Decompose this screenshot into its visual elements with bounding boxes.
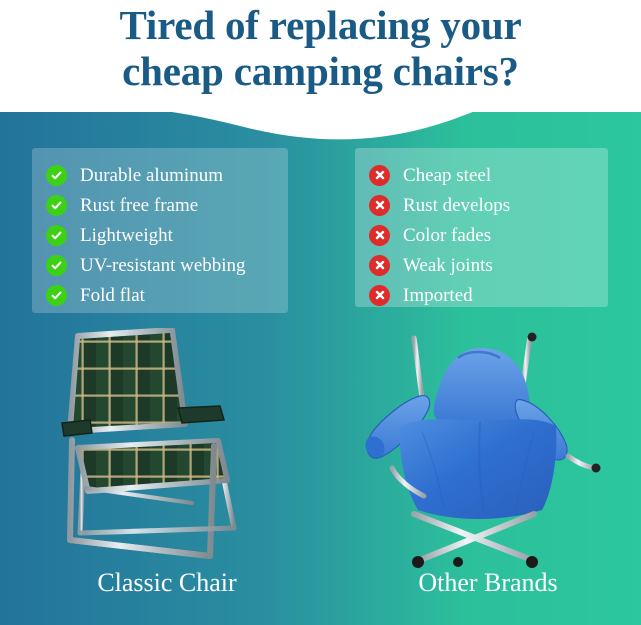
list-item-label: Color fades <box>403 225 491 246</box>
list-item: UV-resistant webbing <box>46 250 274 280</box>
list-item-label: Imported <box>403 285 473 306</box>
list-item-label: Cheap steel <box>403 165 491 186</box>
list-item-label: Durable aluminum <box>80 165 223 186</box>
list-item-label: Weak joints <box>403 255 493 276</box>
list-item: Rust develops <box>369 190 594 220</box>
check-circle-icon <box>46 225 67 246</box>
check-circle-icon <box>46 285 67 306</box>
list-item: Cheap steel <box>369 160 594 190</box>
x-circle-icon <box>369 225 390 246</box>
x-circle-icon <box>369 165 390 186</box>
webbed-lawn-chair-image <box>42 328 292 573</box>
list-item: Rust free frame <box>46 190 274 220</box>
check-circle-icon <box>46 165 67 186</box>
blue-folding-camp-chair-image <box>362 328 612 573</box>
comparison-infographic: Tired of replacing your cheap camping ch… <box>0 0 641 625</box>
right-product-caption: Other Brands <box>348 568 628 598</box>
list-item-label: Fold flat <box>80 285 145 306</box>
check-circle-icon <box>46 195 67 216</box>
list-item-label: Rust free frame <box>80 195 198 216</box>
page-title: Tired of replacing your cheap camping ch… <box>0 2 641 94</box>
cons-panel: Cheap steel Rust develops Color fades We… <box>355 148 608 307</box>
list-item: Weak joints <box>369 250 594 280</box>
header-band: Tired of replacing your cheap camping ch… <box>0 0 641 112</box>
pros-panel: Durable aluminum Rust free frame Lightwe… <box>32 148 288 313</box>
list-item-label: UV-resistant webbing <box>80 255 246 276</box>
list-item: Durable aluminum <box>46 160 274 190</box>
list-item: Imported <box>369 280 594 310</box>
list-item: Color fades <box>369 220 594 250</box>
x-circle-icon <box>369 255 390 276</box>
list-item: Fold flat <box>46 280 274 310</box>
x-circle-icon <box>369 285 390 306</box>
check-circle-icon <box>46 255 67 276</box>
list-item-label: Lightweight <box>80 225 173 246</box>
x-circle-icon <box>369 195 390 216</box>
list-item-label: Rust develops <box>403 195 510 216</box>
list-item: Lightweight <box>46 220 274 250</box>
left-product-caption: Classic Chair <box>27 568 307 598</box>
